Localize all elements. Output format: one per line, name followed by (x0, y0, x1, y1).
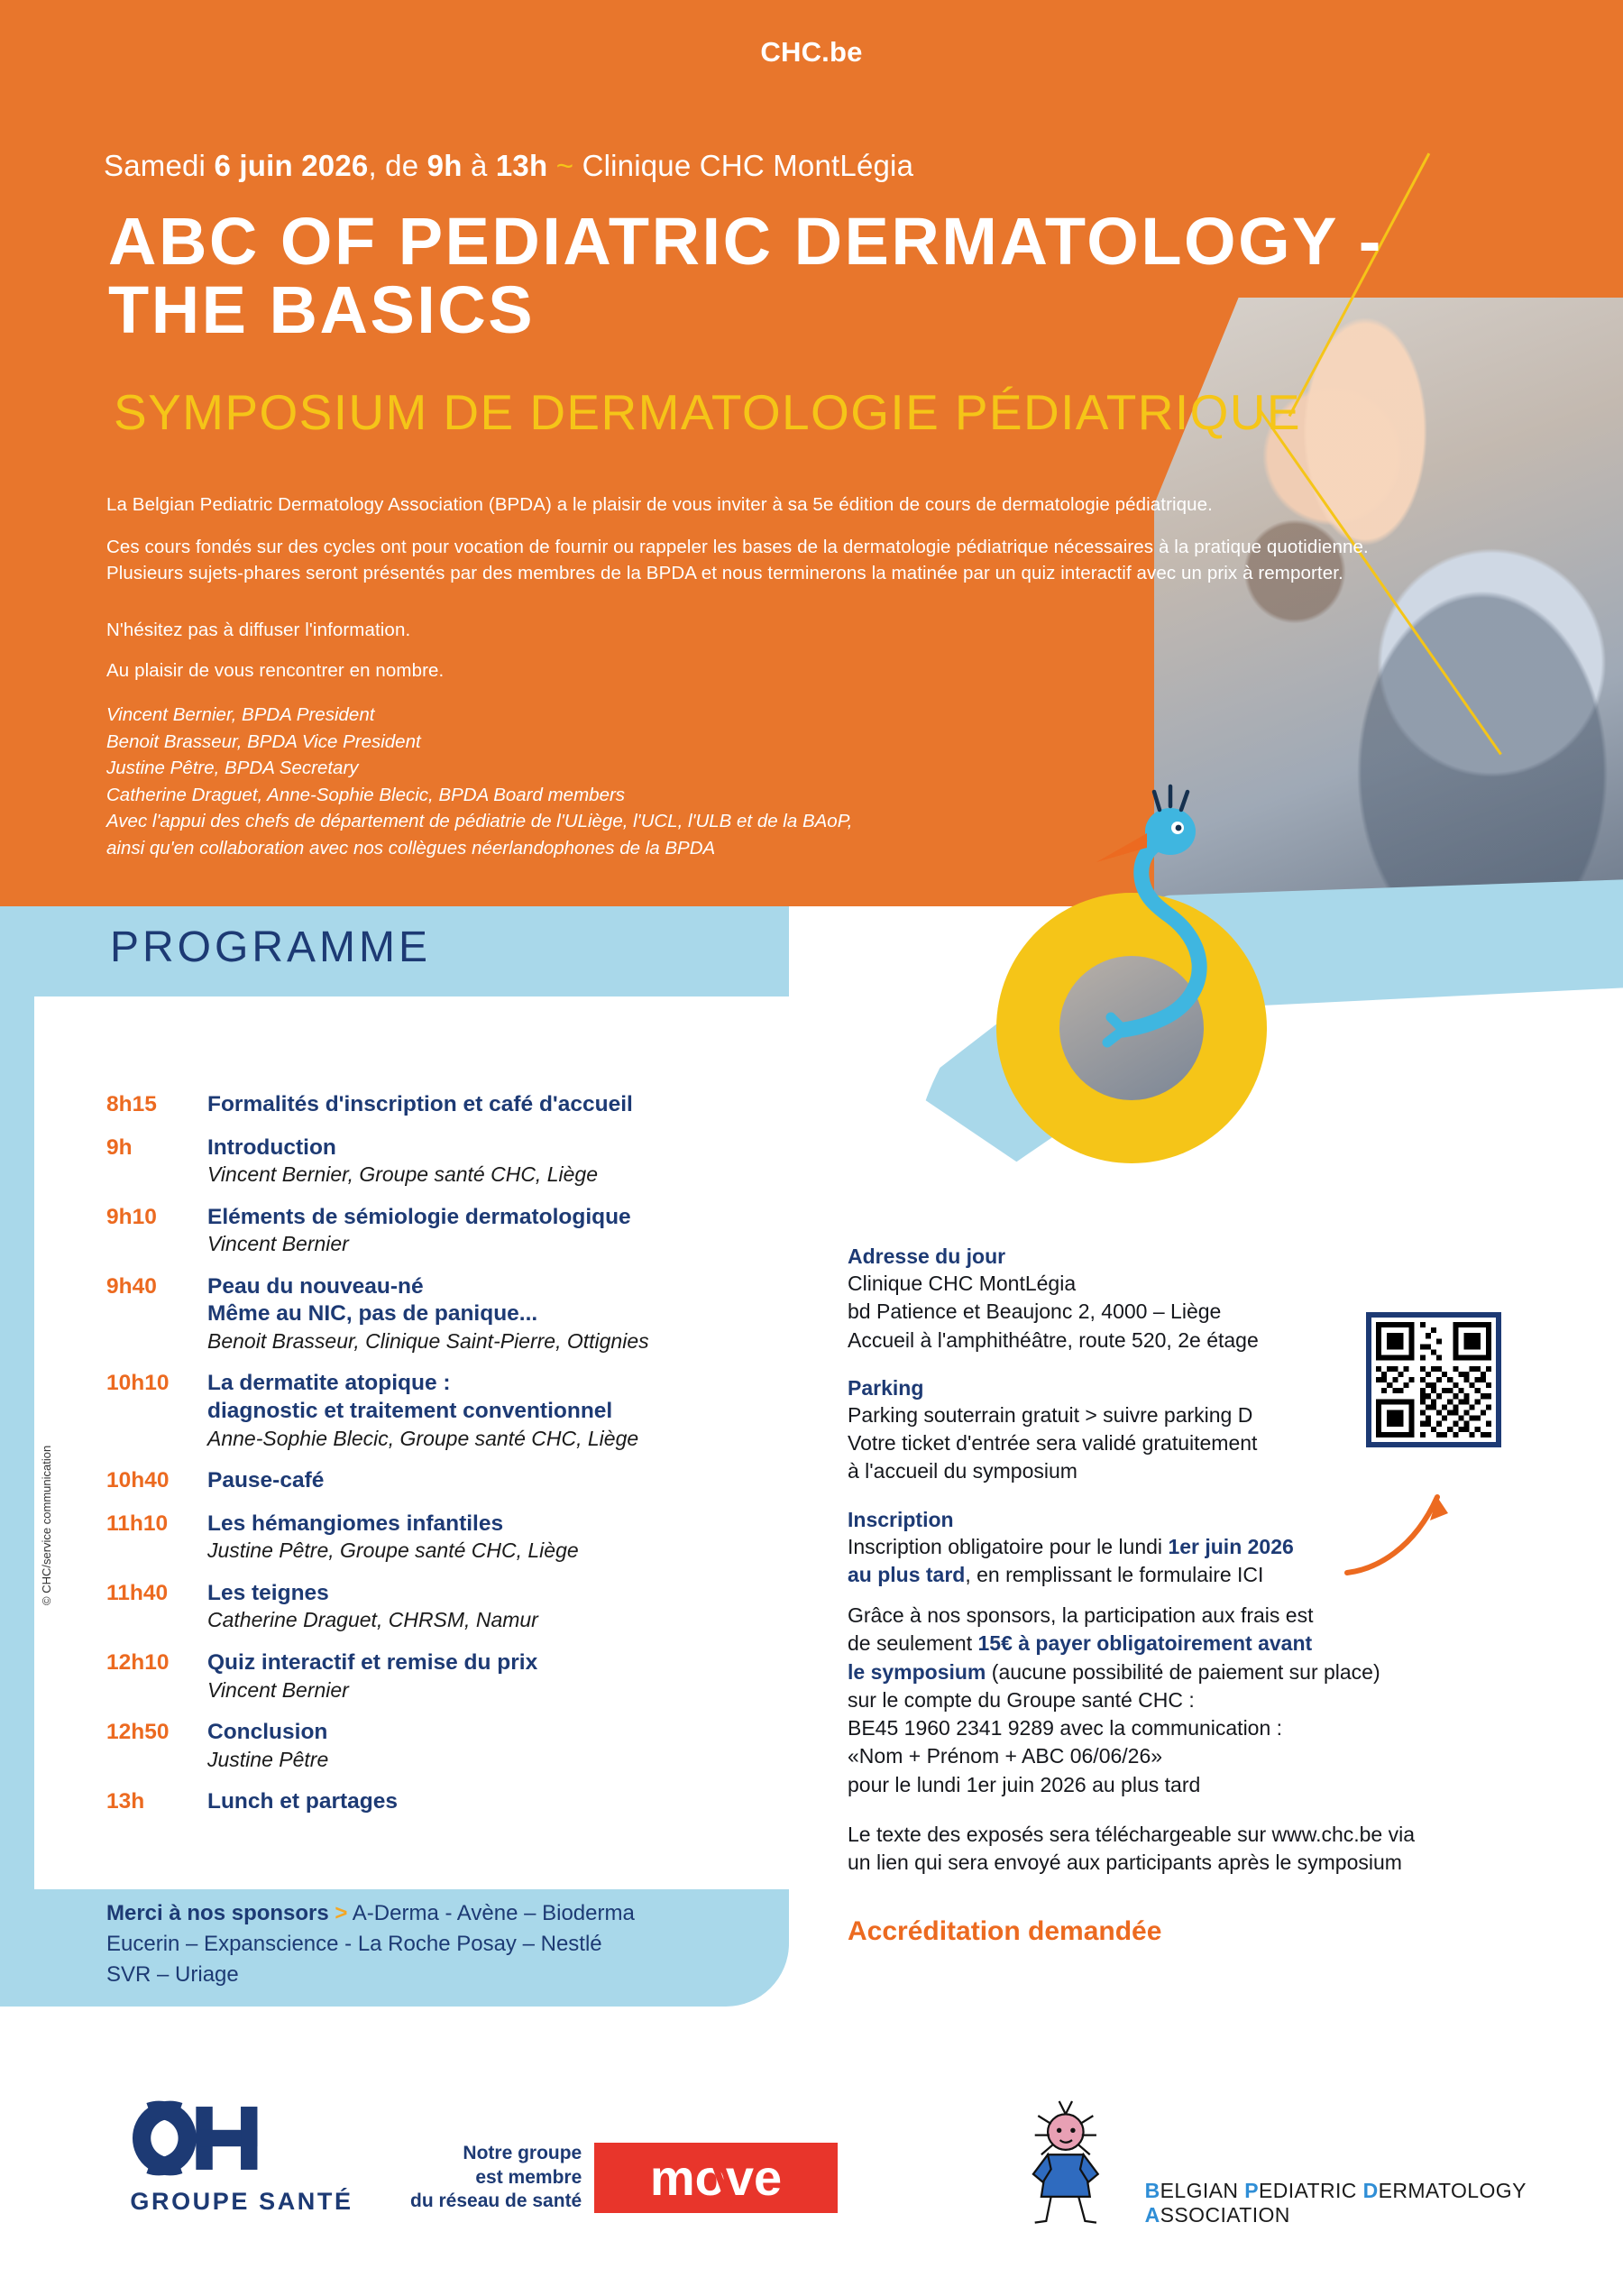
programme-session-subtitle: diagnostic et traitement conventionnel (207, 1398, 756, 1426)
eyebrow-prefix: Samedi (104, 149, 214, 182)
download-line-1: Le texte des exposés sera téléchargeable… (848, 1821, 1533, 1849)
chc-logo-label: GROUPE SANTÉ (106, 2188, 377, 2216)
fee-line-3: le symposium (aucune possibilité de paie… (848, 1658, 1533, 1686)
programme-session-title: Les teignes (207, 1580, 756, 1608)
programme-body: Lunch et partages (207, 1788, 756, 1816)
bpda-logo-label: BELGIAN PEDIATRIC DERMATOLOGY ASSOCIATIO… (1145, 2179, 1623, 2236)
programme-body: Introduction Vincent Bernier, Groupe san… (207, 1134, 756, 1189)
programme-speaker: Justine Pêtre, Groupe santé CHC, Liège (207, 1538, 756, 1564)
signatory: Vincent Bernier, BPDA President (106, 702, 1188, 729)
programme-body: Conclusion Justine Pêtre (207, 1719, 756, 1773)
fee-line-1: Grâce à nos sponsors, la participation a… (848, 1602, 1533, 1630)
eyebrow-time-from: 9h (427, 149, 463, 182)
event-date-venue: Samedi 6 juin 2026, de 9h à 13h ~ Cliniq… (104, 149, 913, 183)
programme-item: 9h10 Eléments de sémiologie dermatologiq… (106, 1204, 756, 1258)
signatory: Benoit Brasseur, BPDA Vice President (106, 729, 1188, 756)
programme-item: 12h10 Quiz interactif et remise du prix … (106, 1649, 756, 1704)
bpda-logo: BELGIAN PEDIATRIC DERMATOLOGY ASSOCIATIO… (1001, 2092, 1623, 2236)
inscription-deadline-suffix: au plus tard (848, 1563, 965, 1586)
download-line-2: un lien qui sera envoyé aux participants… (848, 1849, 1533, 1877)
programme-time: 12h10 (106, 1649, 207, 1704)
sponsors-label: Merci à nos sponsors (106, 1901, 329, 1925)
move-network-logo: Notre groupe est membre du réseau de san… (410, 2139, 838, 2217)
programme-body: Quiz interactif et remise du prix Vincen… (207, 1649, 756, 1704)
programme-item: 11h10 Les hémangiomes infantiles Justine… (106, 1511, 756, 1565)
inscription-text: Inscription obligatoire pour le lundi (848, 1535, 1168, 1558)
inscription-deadline: 1er juin 2026 (1168, 1535, 1293, 1558)
hero-paragraph-3: N'hésitez pas à diffuser l'information. (106, 617, 1387, 643)
left-blue-rail (0, 906, 34, 1889)
fee-amount: 15€ à payer obligatoirement avant (977, 1631, 1312, 1655)
communication-line: «Nom + Prénom + ABC 06/06/26» (848, 1742, 1533, 1770)
signatories-block: Vincent Bernier, BPDA President Benoit B… (106, 702, 1188, 861)
programme-speaker: Vincent Bernier (207, 1677, 756, 1704)
move-caption-line-3: du réseau de santé (410, 2190, 582, 2214)
programme-time: 9h (106, 1134, 207, 1189)
signatory: Catherine Draguet, Anne-Sophie Blecic, B… (106, 782, 1188, 809)
chevron-right-icon: > (335, 1901, 347, 1925)
programme-session-title: Quiz interactif et remise du prix (207, 1649, 756, 1677)
bpda-b: B (1145, 2179, 1160, 2202)
programme-time: 10h40 (106, 1467, 207, 1495)
programme-time: 13h (106, 1788, 207, 1816)
page-subtitle: Symposium de dermatologie pédiatrique (114, 383, 1592, 441)
signatory: ainsi qu'en collaboration avec nos collè… (106, 835, 1188, 862)
bpda-child-icon (1001, 2092, 1131, 2236)
qr-code-icon (1376, 1322, 1491, 1437)
programme-speaker: Benoit Brasseur, Clinique Saint-Pierre, … (207, 1328, 756, 1355)
eyebrow-mid: , de (368, 149, 426, 182)
eyebrow-mid2: à (463, 149, 496, 182)
programme-session-title: Lunch et partages (207, 1788, 756, 1816)
bpda-d-rest: ERMATOLOGY (1379, 2179, 1527, 2202)
accreditation-note: Accréditation demandée (848, 1916, 1161, 1947)
programme-session-title: Eléments de sémiologie dermatologique (207, 1204, 756, 1232)
programme-item: 11h40 Les teignes Catherine Draguet, CHR… (106, 1580, 756, 1634)
programme-item: 9h40 Peau du nouveau-né Même au NIC, pas… (106, 1273, 756, 1355)
hero-paragraph-2: Ces cours fondés sur des cycles ont pour… (106, 534, 1387, 586)
page-title: ABC of Pediatric Dermatology - The Basic… (108, 207, 1569, 344)
sponsors-names-1: A-Derma - Avène – Bioderma (347, 1901, 634, 1925)
programme-body: Peau du nouveau-né Même au NIC, pas de p… (207, 1273, 756, 1355)
programme-item: 8h15 Formalités d'inscription et café d'… (106, 1091, 756, 1119)
programme-speaker: Justine Pêtre (207, 1747, 756, 1773)
programme-time: 12h50 (106, 1719, 207, 1773)
address-heading: Adresse du jour (848, 1244, 1533, 1269)
programme-body: Eléments de sémiologie dermatologique Vi… (207, 1204, 756, 1258)
programme-session-title: Pause-café (207, 1467, 756, 1495)
copyright-credit: © CHC/service communication (40, 1446, 53, 1605)
programme-item: 12h50 Conclusion Justine Pêtre (106, 1719, 756, 1773)
inscription-form-link[interactable]: , en remplissant le formulaire ICI (965, 1563, 1263, 1586)
move-caption-line-1: Notre groupe (410, 2142, 582, 2166)
iban-line: BE45 1960 2341 9289 avec la communicatio… (848, 1714, 1533, 1742)
programme-time: 9h10 (106, 1204, 207, 1258)
bpda-b-rest: ELGIAN (1160, 2179, 1245, 2202)
programme-body: La dermatite atopique : diagnostic et tr… (207, 1370, 756, 1452)
programme-session-title: Introduction (207, 1134, 756, 1162)
curved-arrow-icon (1343, 1479, 1461, 1578)
address-line: Clinique CHC MontLégia (848, 1270, 1533, 1298)
move-caption-line-2: est membre (410, 2166, 582, 2190)
programme-speaker: Vincent Bernier (207, 1231, 756, 1257)
programme-time: 8h15 (106, 1091, 207, 1119)
programme-item: 10h40 Pause-café (106, 1467, 756, 1495)
bird-illustration (1064, 776, 1271, 1064)
programme-item: 10h10 La dermatite atopique : diagnostic… (106, 1370, 756, 1452)
title-line-2: The Basics (108, 276, 1569, 344)
signatory: Justine Pêtre, BPDA Secretary (106, 755, 1188, 782)
programme-heading: PROGRAMME (110, 923, 431, 972)
programme-session-subtitle: Même au NIC, pas de panique... (207, 1300, 756, 1328)
chc-logo: GROUPE SANTÉ (106, 2097, 377, 2216)
hero-paragraph-4: Au plaisir de vous rencontrer en nombre. (106, 657, 1387, 684)
move-logo-text: move (650, 2149, 782, 2206)
programme-session-title: Peau du nouveau-né (207, 1273, 756, 1301)
programme-time: 11h40 (106, 1580, 207, 1634)
bpda-p-rest: EDIATRIC (1259, 2179, 1363, 2202)
programme-session-title: Formalités d'inscription et café d'accue… (207, 1091, 756, 1119)
chc-logo-icon (106, 2097, 355, 2180)
title-line-1: ABC of Pediatric Dermatology - (108, 207, 1569, 276)
move-network-caption: Notre groupe est membre du réseau de san… (410, 2142, 582, 2215)
programme-session-title: Les hémangiomes infantiles (207, 1511, 756, 1538)
programme-body: Pause-café (207, 1467, 756, 1495)
fee-note: (aucune possibilité de paiement sur plac… (986, 1660, 1380, 1684)
fee-line-2: de seulement 15€ à payer obligatoirement… (848, 1630, 1533, 1658)
eyebrow-time-to: 13h (496, 149, 547, 182)
fee-line-4: sur le compte du Groupe santé CHC : (848, 1686, 1533, 1714)
sponsors-text: Merci à nos sponsors > A-Derma - Avène –… (106, 1898, 756, 1990)
programme-session-title: La dermatite atopique : (207, 1370, 756, 1398)
programme-speaker: Catherine Draguet, CHRSM, Namur (207, 1607, 756, 1633)
sponsors-line-3: SVR – Uriage (106, 1960, 756, 1990)
eyebrow-date: 6 juin 2026 (214, 149, 368, 182)
programme-time: 11h10 (106, 1511, 207, 1565)
fee-prefix: de seulement (848, 1631, 977, 1655)
programme-body: Les hémangiomes infantiles Justine Pêtre… (207, 1511, 756, 1565)
programme-time: 10h10 (106, 1370, 207, 1452)
qr-code[interactable] (1366, 1312, 1501, 1447)
eyebrow-tilde: ~ (547, 149, 582, 182)
footer: GROUPE SANTÉ Notre groupe est membre du … (0, 2056, 1623, 2296)
programme-session-title: Conclusion (207, 1719, 756, 1747)
payment-deadline-line: pour le lundi 1er juin 2026 au plus tard (848, 1771, 1533, 1799)
bpda-a: A (1145, 2203, 1160, 2227)
signatory: Avec l'appui des chefs de département de… (106, 808, 1188, 835)
programme-list: 8h15 Formalités d'inscription et café d'… (106, 1091, 756, 1832)
programme-body: Formalités d'inscription et café d'accue… (207, 1091, 756, 1119)
bpda-d: D (1363, 2179, 1379, 2202)
programme-speaker: Anne-Sophie Blecic, Groupe santé CHC, Li… (207, 1426, 756, 1452)
programme-time: 9h40 (106, 1273, 207, 1355)
hero-paragraph-1: La Belgian Pediatric Dermatology Associa… (106, 491, 1387, 518)
programme-item: 13h Lunch et partages (106, 1788, 756, 1816)
bpda-p: P (1244, 2179, 1259, 2202)
sponsors-line-1: Merci à nos sponsors > A-Derma - Avène –… (106, 1898, 756, 1929)
move-logo-icon: move (594, 2139, 838, 2217)
chc-website-label: CHC.be (0, 36, 1623, 69)
eyebrow-venue: Clinique CHC MontLégia (582, 149, 914, 182)
programme-body: Les teignes Catherine Draguet, CHRSM, Na… (207, 1580, 756, 1634)
sponsors-line-2: Eucerin – Expanscience - La Roche Posay … (106, 1929, 756, 1960)
programme-speaker: Vincent Bernier, Groupe santé CHC, Liège (207, 1162, 756, 1188)
fee-symposium-bold: le symposium (848, 1660, 986, 1684)
bpda-a-rest: SSOCIATION (1160, 2203, 1290, 2227)
programme-item: 9h Introduction Vincent Bernier, Groupe … (106, 1134, 756, 1189)
